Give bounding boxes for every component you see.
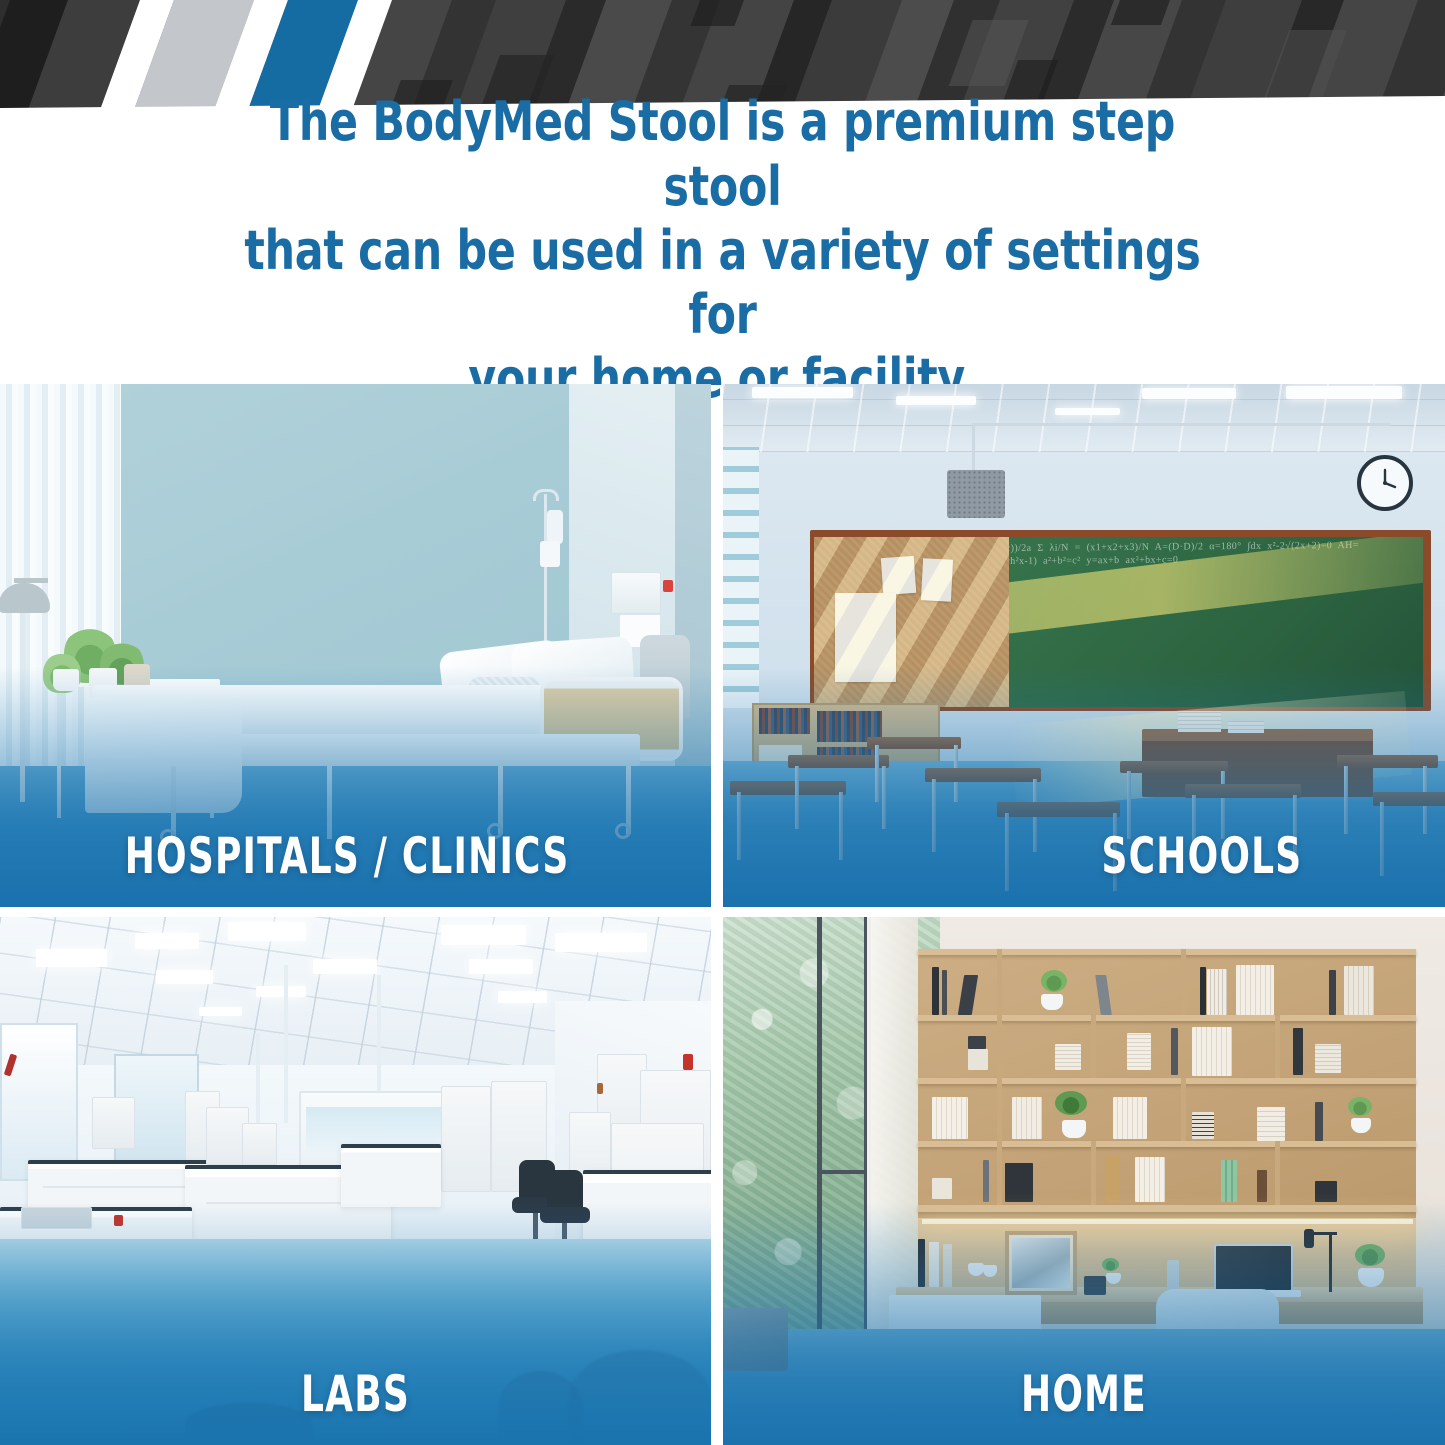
picture-frame-icon [1005,1231,1077,1294]
panel-schools[interactable]: F=v t/r =1 E=pv t/r =1 x=(-b±√(b²-4ac))/… [723,384,1445,907]
page-title: The BodyMed Stool is a premium step stoo… [232,90,1213,411]
panel-label-schools: SCHOOLS [795,827,1373,885]
iv-pump-icon [540,541,560,567]
headline-line-1: The BodyMed Stool is a premium step stoo… [232,90,1213,219]
iv-bag-icon [547,510,563,544]
bookshelf-icon [918,949,1416,1224]
classroom-window-icon [723,447,759,709]
panel-label-home: HOME [795,1365,1373,1423]
under-shelf-light-icon [922,1219,1413,1224]
wall-speaker-icon [947,470,1005,518]
panel-label-hospitals-clinics: HOSPITALS / CLINICS [71,827,640,885]
headline-section: The BodyMed Stool is a premium step stoo… [0,119,1445,383]
laptop-icon [1214,1244,1293,1292]
panel-label-labs: LABS [71,1365,640,1423]
panel-home[interactable]: HOME [723,917,1445,1445]
infographic-page: The BodyMed Stool is a premium step stoo… [0,0,1445,1445]
wall-clock-icon [1357,455,1413,511]
patient-monitor-icon [611,572,661,614]
panel-labs[interactable]: LABS [0,917,711,1445]
headline-line-2: that can be used in a variety of setting… [232,219,1213,348]
settings-panel-grid: HOSPITALS / CLINICS [0,384,1445,1445]
panel-hospitals-clinics[interactable]: HOSPITALS / CLINICS [0,384,711,907]
lab-window-icon [0,1023,78,1181]
